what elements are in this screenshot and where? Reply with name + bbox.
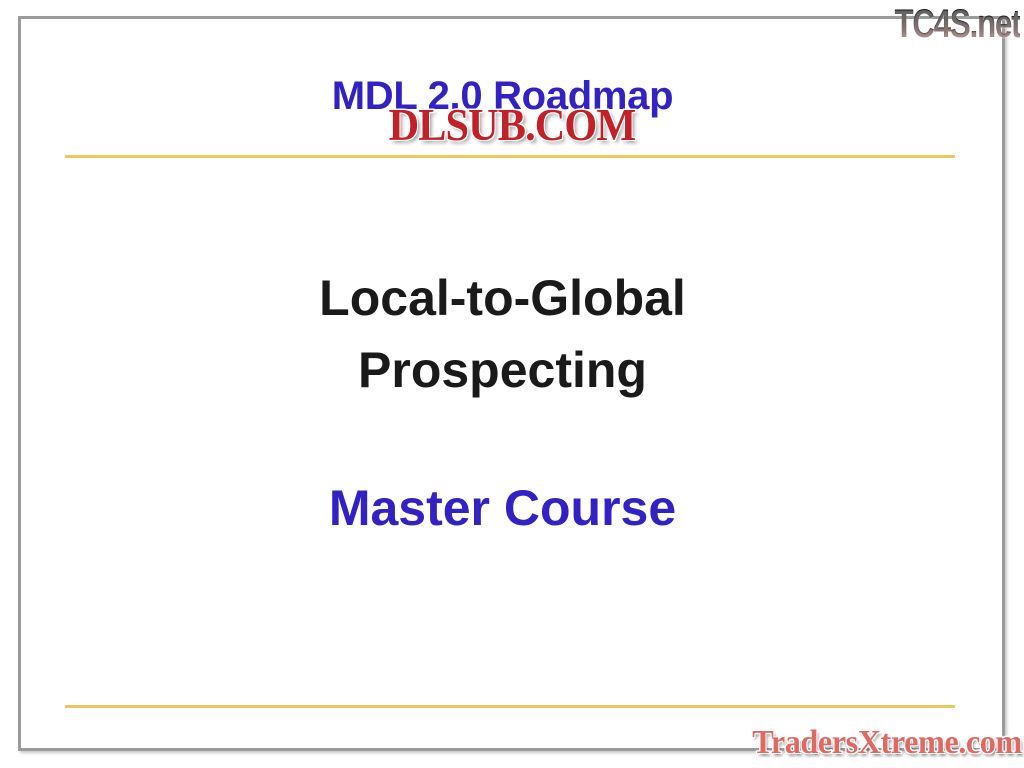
slide-body: Local-to-Global Prospecting Master Cours… <box>0 262 1005 544</box>
divider-bottom <box>65 705 955 708</box>
body-spacer <box>0 406 1005 472</box>
body-line-2-wrapper: Prospecting <box>0 334 1005 406</box>
body-line-2: Prospecting <box>358 342 647 398</box>
body-line-1: Local-to-Global <box>0 262 1005 334</box>
slide-root: MDL 2.0 Roadmap Local-to-Global Prospect… <box>0 0 1024 768</box>
page-title: MDL 2.0 Roadmap <box>0 74 1005 119</box>
divider-top <box>65 155 955 158</box>
body-line-3: Master Course <box>0 472 1005 544</box>
